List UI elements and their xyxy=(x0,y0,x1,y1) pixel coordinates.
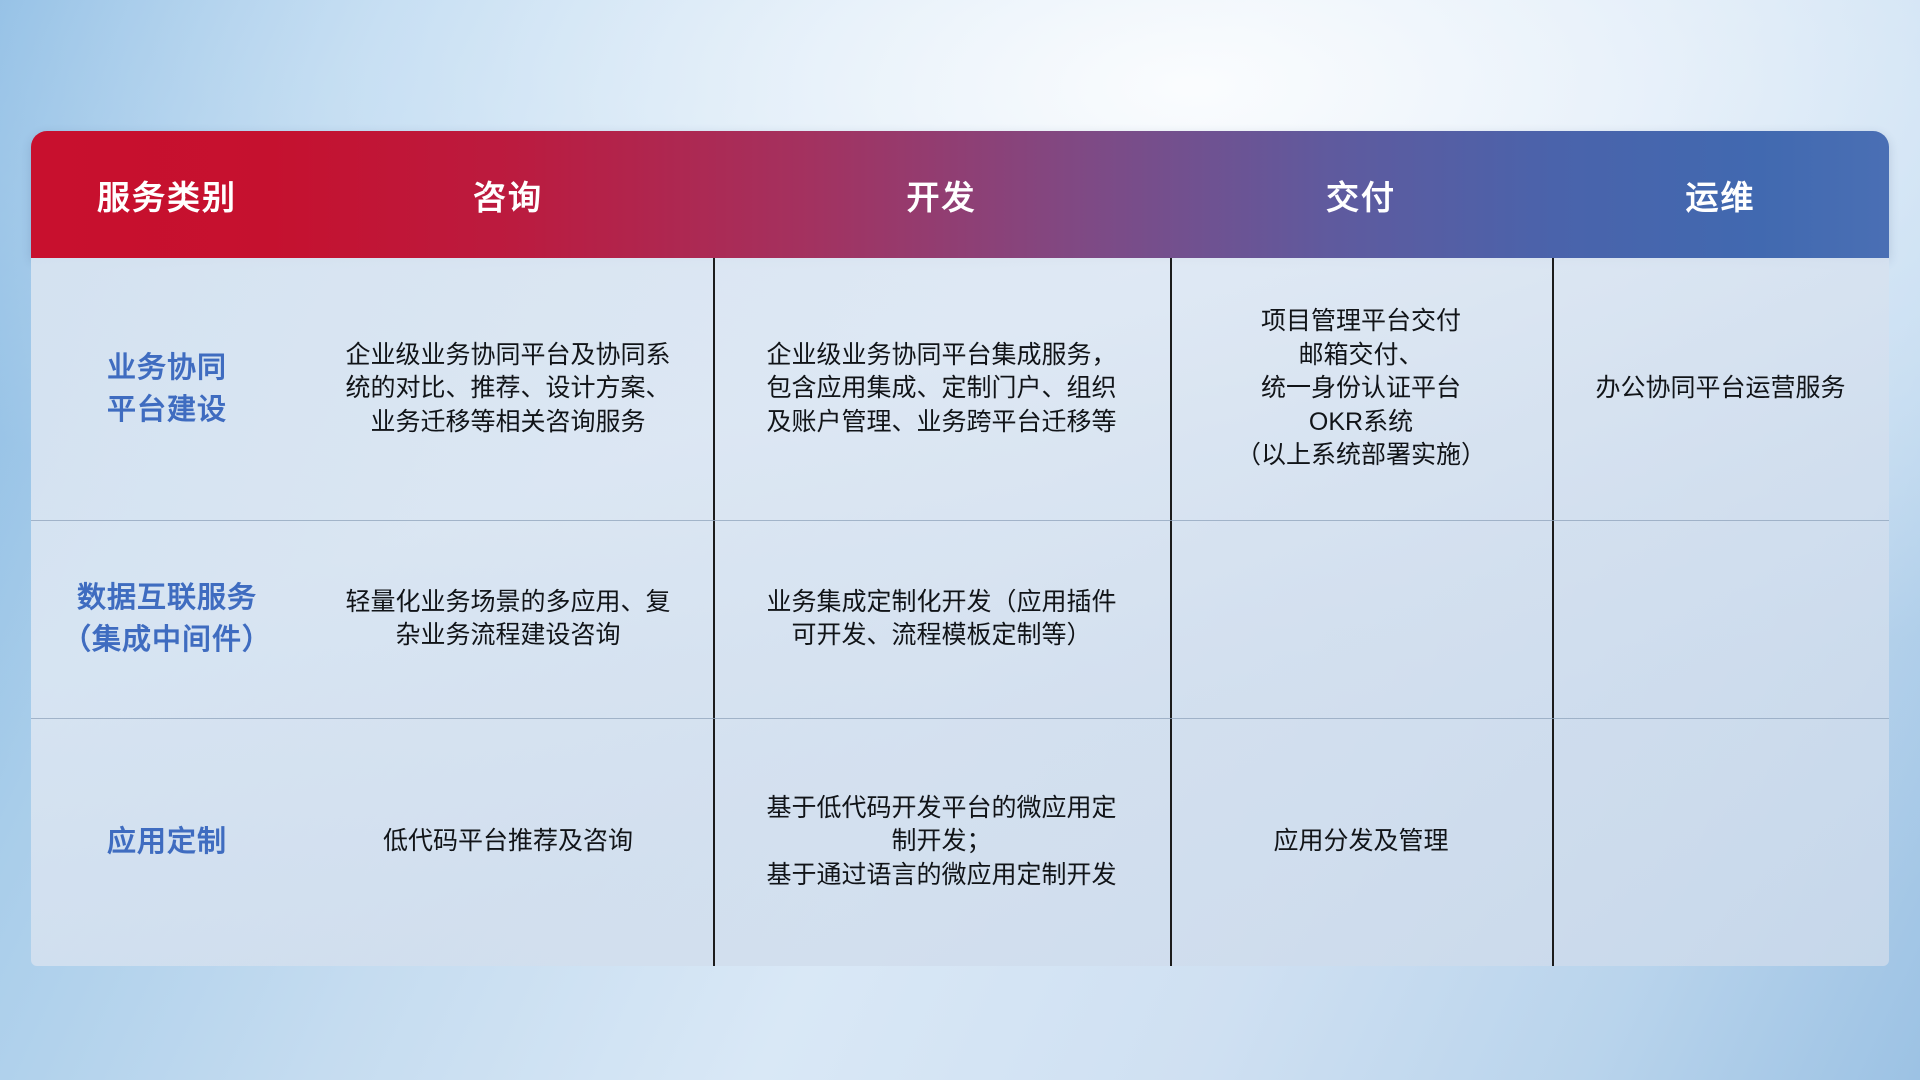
column-header-consulting[interactable]: 咨询 xyxy=(303,131,713,258)
cell-development-row1: 企业级业务协同平台集成服务， 包含应用集成、定制门户、组织 及账户管理、业务跨平… xyxy=(713,258,1170,520)
delivery-text-row1: 项目管理平台交付 邮箱交付、 统一身份认证平台 OKR系统 （以上系统部署实施） xyxy=(1184,305,1538,473)
cell-operations-row1: 办公协同平台运营服务 xyxy=(1552,258,1889,520)
table-row: 业务协同 平台建设 企业级业务协同平台及协同系 统的对比、推荐、设计方案、 业务… xyxy=(31,258,1889,520)
cell-consulting-row2: 轻量化业务场景的多应用、复 杂业务流程建设咨询 xyxy=(303,520,713,718)
service-matrix-table: 服务类别 咨询 开发 交付 运维 业务协同 平台建设 企业级业务协同平台及协同系… xyxy=(31,131,1889,966)
table-header: 服务类别 咨询 开发 交付 运维 xyxy=(31,131,1889,258)
category-label-row3: 应用定制 xyxy=(45,821,289,863)
category-label-row2: 数据互联服务 （集成中间件） xyxy=(45,577,289,661)
cell-consulting-row1: 企业级业务协同平台及协同系 统的对比、推荐、设计方案、 业务迁移等相关咨询服务 xyxy=(303,258,713,520)
category-label-row1: 业务协同 平台建设 xyxy=(45,347,289,431)
header-row: 服务类别 咨询 开发 交付 运维 xyxy=(31,131,1889,258)
slide-canvas: 服务类别 咨询 开发 交付 运维 业务协同 平台建设 企业级业务协同平台及协同系… xyxy=(0,0,1920,1080)
consulting-text-row3: 低代码平台推荐及咨询 xyxy=(317,825,699,859)
table-row: 应用定制 低代码平台推荐及咨询 基于低代码开发平台的微应用定 制开发； 基于通过… xyxy=(31,718,1889,966)
cell-category-row1: 业务协同 平台建设 xyxy=(31,258,303,520)
operations-text-row1: 办公协同平台运营服务 xyxy=(1566,372,1875,406)
cell-delivery-row1: 项目管理平台交付 邮箱交付、 统一身份认证平台 OKR系统 （以上系统部署实施） xyxy=(1170,258,1552,520)
delivery-text-row3: 应用分发及管理 xyxy=(1184,825,1538,859)
cell-operations-row2 xyxy=(1552,520,1889,718)
consulting-text-row1: 企业级业务协同平台及协同系 统的对比、推荐、设计方案、 业务迁移等相关咨询服务 xyxy=(317,339,699,440)
development-text-row2: 业务集成定制化开发（应用插件 可开发、流程模板定制等） xyxy=(727,586,1156,653)
cell-category-row2: 数据互联服务 （集成中间件） xyxy=(31,520,303,718)
column-header-development[interactable]: 开发 xyxy=(713,131,1170,258)
cell-delivery-row3: 应用分发及管理 xyxy=(1170,718,1552,966)
cell-operations-row3 xyxy=(1552,718,1889,966)
consulting-text-row2: 轻量化业务场景的多应用、复 杂业务流程建设咨询 xyxy=(317,586,699,653)
cell-delivery-row2 xyxy=(1170,520,1552,718)
cell-development-row2: 业务集成定制化开发（应用插件 可开发、流程模板定制等） xyxy=(713,520,1170,718)
column-header-operations[interactable]: 运维 xyxy=(1552,131,1889,258)
table-body: 业务协同 平台建设 企业级业务协同平台及协同系 统的对比、推荐、设计方案、 业务… xyxy=(31,258,1889,966)
column-header-delivery[interactable]: 交付 xyxy=(1170,131,1552,258)
cell-development-row3: 基于低代码开发平台的微应用定 制开发； 基于通过语言的微应用定制开发 xyxy=(713,718,1170,966)
column-header-category[interactable]: 服务类别 xyxy=(31,131,303,258)
table-row: 数据互联服务 （集成中间件） 轻量化业务场景的多应用、复 杂业务流程建设咨询 业… xyxy=(31,520,1889,718)
development-text-row1: 企业级业务协同平台集成服务， 包含应用集成、定制门户、组织 及账户管理、业务跨平… xyxy=(727,339,1156,440)
cell-category-row3: 应用定制 xyxy=(31,718,303,966)
development-text-row3: 基于低代码开发平台的微应用定 制开发； 基于通过语言的微应用定制开发 xyxy=(727,792,1156,893)
cell-consulting-row3: 低代码平台推荐及咨询 xyxy=(303,718,713,966)
